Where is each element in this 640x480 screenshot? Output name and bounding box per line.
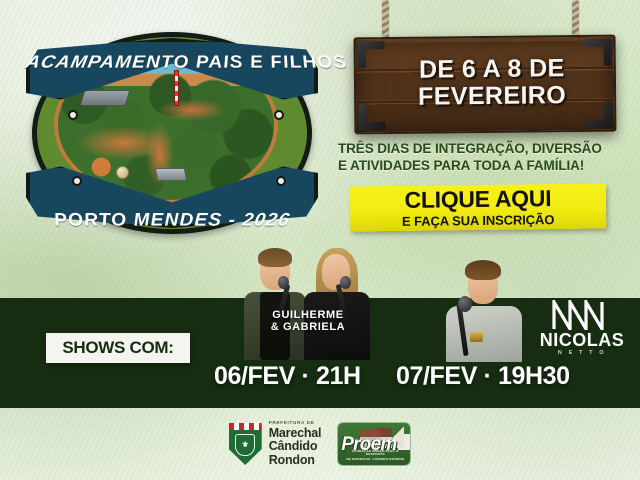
prefeitura-line-2: Cândido xyxy=(269,440,322,454)
sign-text-block: DE 6 A 8 DE FEVEREIRO xyxy=(356,55,615,112)
prefeitura-text: PREFEITURA DE Marechal Cândido Rondon xyxy=(269,421,322,467)
coat-of-arms-icon: ⚜ xyxy=(229,423,262,465)
event-tagline: TRÊS DIAS DE INTEGRAÇÃO, DIVERSÃO E ATIV… xyxy=(338,140,633,174)
wooden-date-sign: DE 6 A 8 DE FEVEREIRO xyxy=(353,35,616,135)
crest-glyph-icon: ⚜ xyxy=(235,434,255,456)
wristwatch-icon xyxy=(470,332,483,342)
cta-sub-label: E FAÇA SUA INSCRIÇÃO xyxy=(402,213,554,228)
nicolas-sub-text: N E T T O xyxy=(536,351,628,357)
tagline-line-2: E ATIVIDADES PARA TODA A FAMÍLIA! xyxy=(338,157,633,174)
artist-hair xyxy=(465,260,501,280)
sign-line-2: FEVEREIRO xyxy=(370,82,614,112)
proem-subtitle-2: DE MARECHAL CÂNDIDO RONDON xyxy=(342,458,408,462)
shows-label-box: SHOWS COM: xyxy=(46,333,190,363)
nicolas-monogram-icon xyxy=(550,300,614,330)
shield-banner xyxy=(229,423,262,430)
footer-logos: ⚜ PREFEITURA DE Marechal Cândido Rondon … xyxy=(0,408,640,480)
nicolas-name-text: NICOLAS xyxy=(536,331,628,349)
microphone-head-icon xyxy=(458,296,472,312)
duo-name-line-2: & GABRIELA xyxy=(262,322,354,334)
proem-logo: Proem FUNDAÇÃO PROEM PARA O DESPORTO DE … xyxy=(337,422,411,466)
show-date-1: 06/FEV · 21H xyxy=(214,362,361,391)
nicolas-artist-logo: NICOLAS N E T T O xyxy=(536,300,628,357)
badge-title-text: ACAMPAMENTO PAIS E FILHOS xyxy=(23,53,322,73)
event-badge-logo: ACAMPAMENTO PAIS E FILHOS PORTO MENDES -… xyxy=(26,24,318,242)
artist-photo-solo xyxy=(434,258,534,362)
prefeitura-line-3: Rondon xyxy=(269,454,322,468)
artist-photo-duo: GUILHERME & GABRIELA xyxy=(238,248,374,360)
duo-name-line-1: GUILHERME xyxy=(262,310,354,322)
microphone-head-icon xyxy=(340,276,351,289)
event-poster: ACAMPAMENTO PAIS E FILHOS PORTO MENDES -… xyxy=(0,0,640,480)
shows-label-text: SHOWS COM: xyxy=(62,338,173,358)
cta-main-label: CLIQUE AQUI xyxy=(404,187,551,212)
artist-hair xyxy=(258,248,292,267)
microphone-head-icon xyxy=(278,276,289,289)
prefeitura-logo: ⚜ PREFEITURA DE Marechal Cândido Rondon xyxy=(229,421,322,467)
badge-stud-icon xyxy=(276,176,286,186)
sign-line-1: DE 6 A 8 DE xyxy=(370,55,614,85)
badge-location-text: PORTO MENDES - 2026 xyxy=(23,210,321,231)
badge-stud-icon xyxy=(274,110,284,120)
proem-subtitle-1: FUNDAÇÃO PROEM PARA O DESPORTO xyxy=(342,450,408,457)
signup-cta-button[interactable]: CLIQUE AQUI E FAÇA SUA INSCRIÇÃO xyxy=(350,183,607,231)
prefeitura-prefix: PREFEITURA DE xyxy=(269,421,322,426)
tagline-line-1: TRÊS DIAS DE INTEGRAÇÃO, DIVERSÃO xyxy=(338,140,633,157)
badge-stud-icon xyxy=(72,176,82,186)
show-date-2: 07/FEV · 19H30 xyxy=(396,362,570,391)
prefeitura-line-1: Marechal xyxy=(269,427,322,441)
badge-stud-icon xyxy=(68,110,78,120)
duo-band-logo: GUILHERME & GABRIELA xyxy=(262,310,354,333)
